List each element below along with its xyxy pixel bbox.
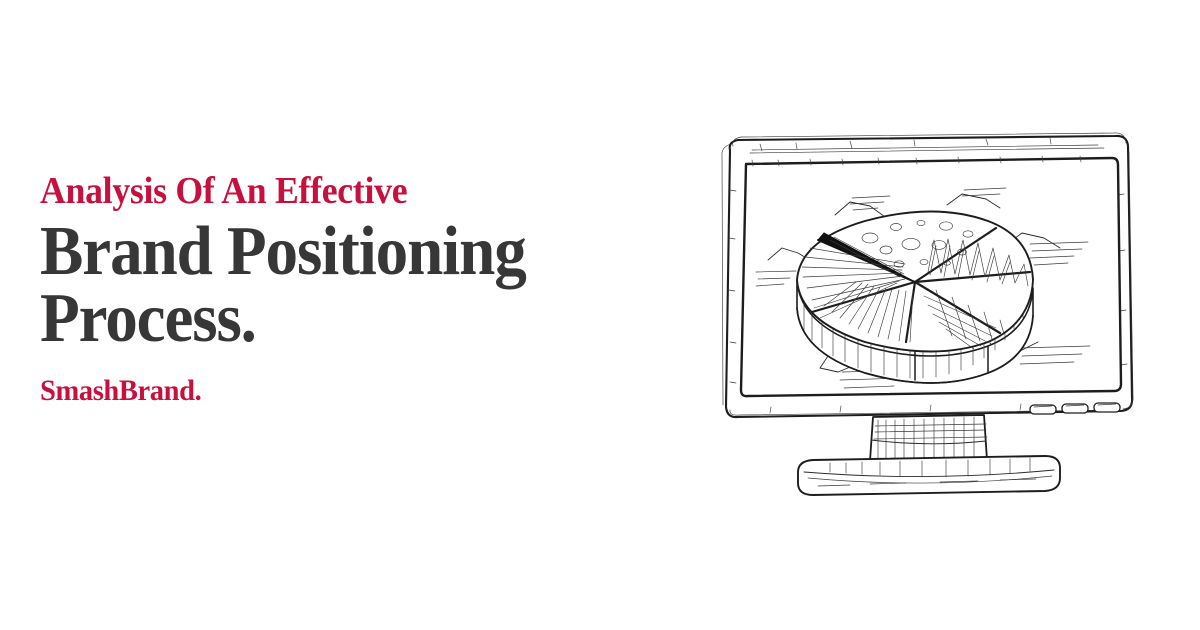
monitor-stand-base xyxy=(798,456,1060,495)
monitor-control-buttons[interactable] xyxy=(1030,403,1120,414)
headline-line-2: Process. xyxy=(40,285,654,352)
headline-text-block: Analysis Of An Effective Brand Positioni… xyxy=(40,172,700,406)
eyebrow-kicker: Analysis Of An Effective xyxy=(40,172,660,210)
brand-logo-wordmark: SmashBrand. xyxy=(40,376,667,406)
page-title: Brand Positioning Process. xyxy=(40,218,654,352)
pie-chart-3d xyxy=(797,212,1033,384)
headline-line-1: Brand Positioning xyxy=(40,218,654,285)
banner-canvas: Analysis Of An Effective Brand Positioni… xyxy=(0,0,1200,630)
monitor-illustration xyxy=(700,120,1160,510)
monitor-illustration-svg xyxy=(700,120,1160,510)
